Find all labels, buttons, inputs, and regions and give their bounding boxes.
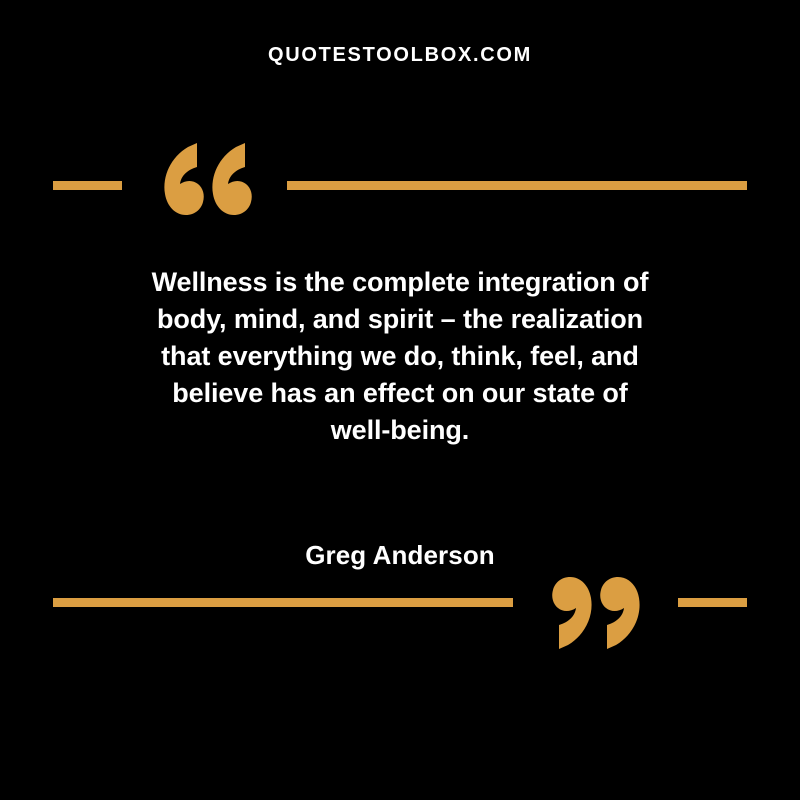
accent-rule-long-bottom [53, 598, 513, 607]
quote-line: well-being. [100, 412, 700, 449]
open-quote-icon [157, 140, 257, 220]
quote-card: QUOTESTOOLBOX.COM Wellness is the comple… [0, 0, 800, 800]
accent-rule-long-top [287, 181, 747, 190]
quote-line: Wellness is the complete integration of [100, 264, 700, 301]
author-name: Greg Anderson [0, 538, 800, 572]
quote-line: that everything we do, think, feel, and [100, 338, 700, 375]
quote-line: body, mind, and spirit – the realization [100, 301, 700, 338]
accent-rule-short-top [53, 181, 122, 190]
quote-line: believe has an effect on our state of [100, 375, 700, 412]
quote-text: Wellness is the complete integration of … [100, 264, 700, 449]
site-watermark: QUOTESTOOLBOX.COM [0, 42, 800, 68]
accent-rule-short-bottom [678, 598, 747, 607]
close-quote-icon [547, 572, 647, 652]
